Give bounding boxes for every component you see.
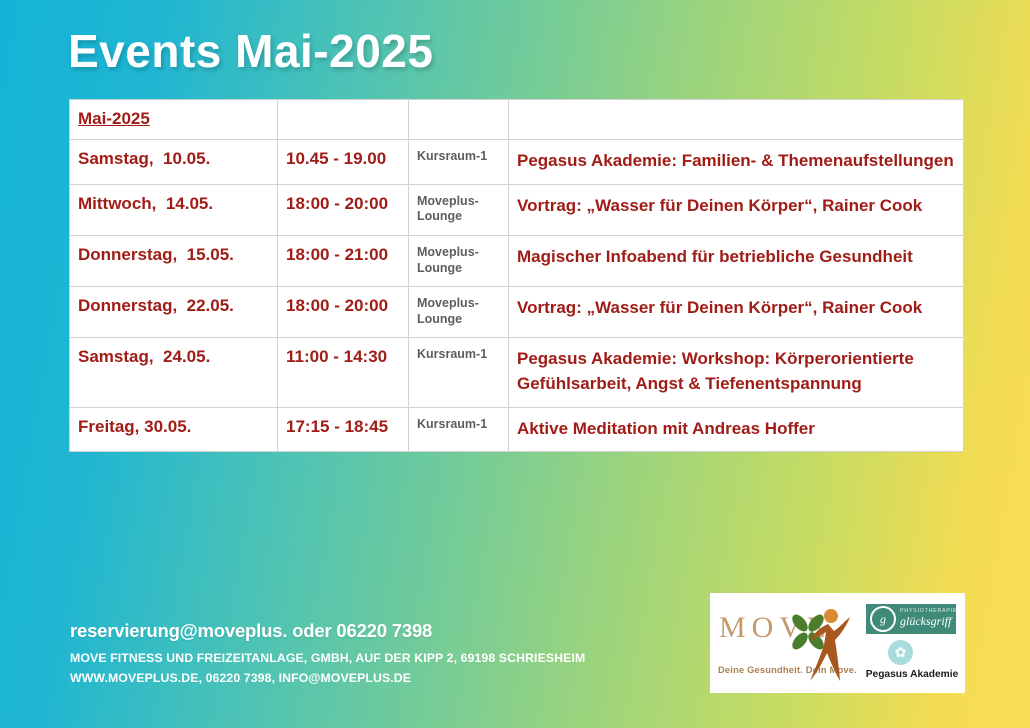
company-contact-line: WWW.MOVEPLUS.DE, 06220 7398, INFO@MOVEPL… bbox=[70, 668, 585, 688]
event-day: Donnerstag, 22.05. bbox=[70, 287, 278, 338]
event-day: Donnerstag, 15.05. bbox=[70, 235, 278, 286]
event-time: 18:00 - 20:00 bbox=[278, 184, 409, 235]
table-row: Donnerstag, 22.05. 18:00 - 20:00 Moveplu… bbox=[70, 287, 964, 338]
event-room: Moveplus-Lounge bbox=[409, 235, 509, 286]
event-description: Vortrag: „Wasser für Deinen Körper“, Rai… bbox=[509, 184, 964, 235]
pegasus-akademie-icon: ✿ bbox=[888, 640, 913, 665]
event-description: Aktive Meditation mit Andreas Hoffer bbox=[509, 407, 964, 452]
event-day: Samstag, 10.05. bbox=[70, 140, 278, 185]
glucksgriff-monogram-icon: g bbox=[870, 606, 896, 632]
logo-block: MOVE Deine Gesundheit. Dein Move. g PHYS… bbox=[710, 593, 965, 693]
move-figure-leaf-icon bbox=[788, 601, 858, 683]
event-time: 10.45 - 19.00 bbox=[278, 140, 409, 185]
event-description: Magischer Infoabend für betriebliche Ges… bbox=[509, 235, 964, 286]
event-day: Freitag, 30.05. bbox=[70, 407, 278, 452]
glucksgriff-name: glücksgriff bbox=[900, 615, 957, 628]
event-room: Kursraum-1 bbox=[409, 338, 509, 407]
table-row: Mittwoch, 14.05. 18:00 - 20:00 Moveplus-… bbox=[70, 184, 964, 235]
glucksgriff-text: PHYSIOTHERAPIE glücksgriff bbox=[900, 609, 957, 628]
table-row: Samstag, 10.05. 10.45 - 19.00 Kursraum-1… bbox=[70, 140, 964, 185]
month-header-spacer-desc bbox=[509, 100, 964, 140]
table-row: Donnerstag, 15.05. 18:00 - 21:00 Moveplu… bbox=[70, 235, 964, 286]
glucksgriff-logo: g PHYSIOTHERAPIE glücksgriff bbox=[866, 604, 956, 634]
event-day: Samstag, 24.05. bbox=[70, 338, 278, 407]
footer: reservierung@moveplus. oder 06220 7398 M… bbox=[70, 620, 585, 689]
event-time: 18:00 - 20:00 bbox=[278, 287, 409, 338]
move-logo: MOVE Deine Gesundheit. Dein Move. bbox=[710, 593, 862, 693]
event-time: 18:00 - 21:00 bbox=[278, 235, 409, 286]
reservation-line: reservierung@moveplus. oder 06220 7398 bbox=[70, 620, 585, 642]
events-table-body: Mai-2025 Samstag, 10.05. 10.45 - 19.00 K… bbox=[70, 100, 964, 452]
month-header-spacer-room bbox=[409, 100, 509, 140]
month-header-cell: Mai-2025 bbox=[70, 100, 278, 140]
partner-logos: g PHYSIOTHERAPIE glücksgriff ✿ Pegasus A… bbox=[862, 593, 962, 693]
table-row: Samstag, 24.05. 11:00 - 14:30 Kursraum-1… bbox=[70, 338, 964, 407]
events-table: Mai-2025 Samstag, 10.05. 10.45 - 19.00 K… bbox=[69, 99, 964, 452]
company-address-line: MOVE FITNESS UND FREIZEITANLAGE, GMBH, A… bbox=[70, 648, 585, 668]
event-room: Moveplus-Lounge bbox=[409, 184, 509, 235]
event-description: Pegasus Akademie: Workshop: Körperorient… bbox=[509, 338, 964, 407]
pegasus-akademie-label: Pegasus Akademie bbox=[862, 669, 962, 680]
poster-page: Events Mai-2025 Mai-2025 Samstag, 10.05.… bbox=[0, 0, 1030, 728]
table-row-month-header: Mai-2025 bbox=[70, 100, 964, 140]
table-row: Freitag, 30.05. 17:15 - 18:45 Kursraum-1… bbox=[70, 407, 964, 452]
event-time: 17:15 - 18:45 bbox=[278, 407, 409, 452]
event-description: Pegasus Akademie: Familien- & Themenaufs… bbox=[509, 140, 964, 185]
event-room: Kursraum-1 bbox=[409, 407, 509, 452]
event-time: 11:00 - 14:30 bbox=[278, 338, 409, 407]
month-header-spacer-time bbox=[278, 100, 409, 140]
page-title: Events Mai-2025 bbox=[68, 24, 433, 78]
event-room: Moveplus-Lounge bbox=[409, 287, 509, 338]
event-description: Vortrag: „Wasser für Deinen Körper“, Rai… bbox=[509, 287, 964, 338]
event-day: Mittwoch, 14.05. bbox=[70, 184, 278, 235]
event-room: Kursraum-1 bbox=[409, 140, 509, 185]
